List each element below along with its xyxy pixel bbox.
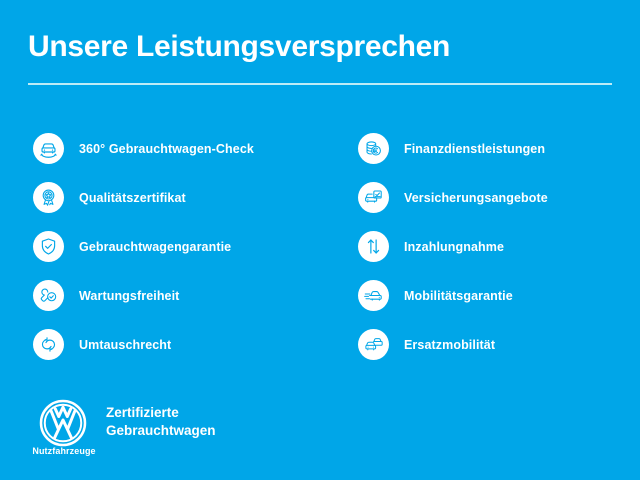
- slide-root: Unsere Leistungsversprechen 360° G: [0, 0, 640, 480]
- brand-claim: Zertifizierte Gebrauchtwagen: [106, 404, 216, 440]
- features-column-left: 360° Gebrauchtwagen-Check Qualitätszerti…: [33, 124, 333, 369]
- title-divider: [28, 83, 612, 85]
- brand-claim-line2: Gebrauchtwagen: [106, 422, 216, 440]
- exchange-arrows-icon: [33, 329, 64, 360]
- feature-item[interactable]: Inzahlungnahme: [358, 222, 638, 271]
- coins-euro-icon: [358, 133, 389, 164]
- feature-label: Qualitätszertifikat: [79, 191, 186, 205]
- arrows-up-down-icon: [358, 231, 389, 262]
- brand-claim-line1: Zertifizierte: [106, 404, 216, 422]
- feature-item[interactable]: Wartungsfreiheit: [33, 271, 333, 320]
- feature-label: Umtauschrecht: [79, 338, 171, 352]
- award-rosette-icon: [33, 182, 64, 213]
- car-front-check-icon: [33, 133, 64, 164]
- car-clipboard-icon: [358, 182, 389, 213]
- feature-item[interactable]: Umtauschrecht: [33, 320, 333, 369]
- brand-sub-label: Nutzfahrzeuge: [24, 446, 104, 456]
- page-title: Unsere Leistungsversprechen: [28, 30, 450, 63]
- feature-label: Inzahlungnahme: [404, 240, 504, 254]
- car-speed-icon: [358, 280, 389, 311]
- feature-item[interactable]: Ersatzmobilität: [358, 320, 638, 369]
- features-column-right: Finanzdienstleistungen Versicherungsange…: [358, 124, 638, 369]
- two-cars-icon: [358, 329, 389, 360]
- feature-label: 360° Gebrauchtwagen-Check: [79, 142, 254, 156]
- brand-lockup: Nutzfahrzeuge Zertifizierte Gebrauchtwag…: [30, 398, 330, 460]
- feature-label: Versicherungsangebote: [404, 191, 548, 205]
- feature-label: Finanzdienstleistungen: [404, 142, 545, 156]
- feature-item[interactable]: Qualitätszertifikat: [33, 173, 333, 222]
- feature-label: Ersatzmobilität: [404, 338, 495, 352]
- feature-item[interactable]: Versicherungsangebote: [358, 173, 638, 222]
- wrench-check-icon: [33, 280, 64, 311]
- shield-check-icon: [33, 231, 64, 262]
- feature-label: Wartungsfreiheit: [79, 289, 179, 303]
- feature-label: Mobilitätsgarantie: [404, 289, 513, 303]
- feature-item[interactable]: Mobilitätsgarantie: [358, 271, 638, 320]
- feature-item[interactable]: Finanzdienstleistungen: [358, 124, 638, 173]
- feature-item[interactable]: 360° Gebrauchtwagen-Check: [33, 124, 333, 173]
- feature-item[interactable]: Gebrauchtwagengarantie: [33, 222, 333, 271]
- feature-label: Gebrauchtwagengarantie: [79, 240, 231, 254]
